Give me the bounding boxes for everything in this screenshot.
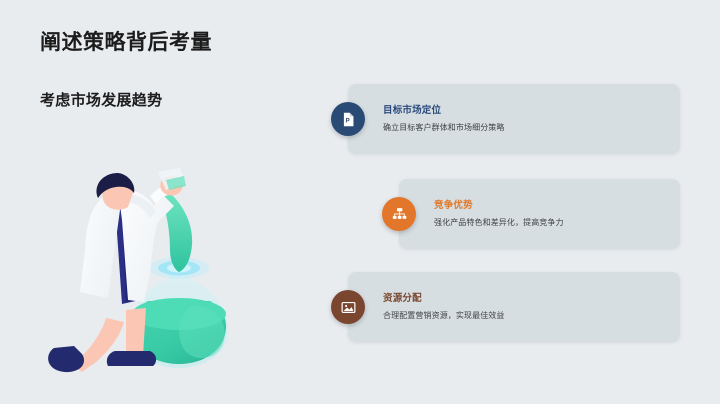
card-resource-allocation[interactable]: 资源分配 合理配置营销资源，实现最佳效益	[348, 272, 680, 342]
lab-coat-left	[80, 194, 120, 298]
card-text-block: 目标市场定位 确立目标客户群体和市场细分策略	[383, 105, 517, 133]
card-description: 合理配置营销资源，实现最佳效益	[383, 310, 505, 321]
card-title: 目标市场定位	[383, 105, 505, 118]
scientist-flask-illustration	[30, 150, 280, 375]
svg-text:P: P	[345, 118, 349, 124]
strategy-card-list: P 目标市场定位 确立目标客户群体和市场细分策略	[348, 84, 680, 364]
illustration-svg	[30, 150, 280, 375]
front-shoe	[107, 351, 156, 366]
presentation-file-icon: P	[331, 102, 365, 136]
card-title: 竞争优势	[434, 200, 564, 213]
file-p-glyph: P	[340, 111, 357, 128]
slide-canvas: 阐述策略背后考量 考虑市场发展趋势	[0, 0, 720, 404]
card-description: 确立目标客户群体和市场细分策略	[383, 122, 505, 133]
picture-glyph	[340, 299, 357, 316]
card-title: 资源分配	[383, 293, 505, 306]
image-picture-icon	[331, 290, 365, 324]
front-leg	[126, 308, 146, 356]
card-text-block: 竞争优势 强化产品特色和差异化，提高竞争力	[434, 200, 576, 228]
sitemap-hierarchy-icon	[382, 197, 416, 231]
card-target-market-positioning[interactable]: P 目标市场定位 确立目标客户群体和市场细分策略	[348, 84, 680, 154]
card-competitive-advantage[interactable]: 竞争优势 强化产品特色和差异化，提高竞争力	[399, 179, 680, 249]
page-title: 阐述策略背后考量	[40, 26, 212, 56]
card-text-block: 资源分配 合理配置营销资源，实现最佳效益	[383, 293, 517, 321]
card-description: 强化产品特色和差异化，提高竞争力	[434, 217, 564, 228]
back-shoe	[48, 346, 84, 372]
sitemap-glyph	[391, 206, 408, 223]
page-subtitle: 考虑市场发展趋势	[40, 89, 162, 110]
